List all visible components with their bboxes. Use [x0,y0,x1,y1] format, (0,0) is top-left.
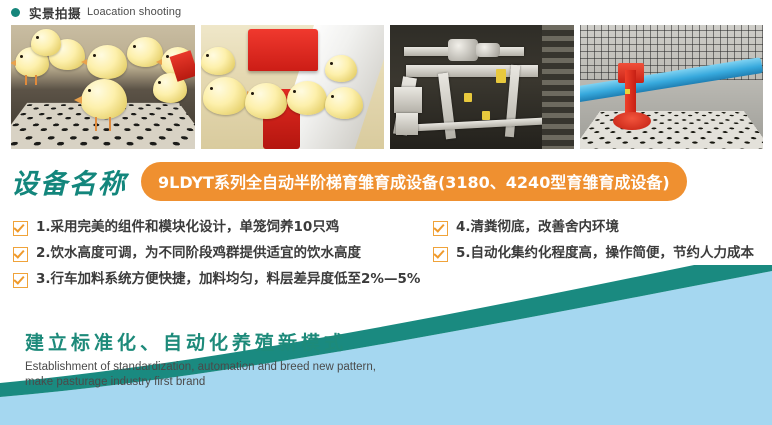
section-header: 实景拍摄 Loacation shooting [0,0,181,24]
chick-shape [245,83,287,119]
slogan-en-line1: Establishment of standardization, automa… [25,360,376,375]
feature-text: 5.自动化集约化程度高，操作简便，节约人力成本 [456,243,754,264]
feature-row: 3.行车加料系统方便快捷，加料均匀，料层差异度低至2%—5% [13,269,759,290]
photo-chicks-drinking [201,25,385,149]
chick-shape [325,55,357,82]
slogan-block: 建立标准化、自动化养殖新模式 Establishment of standard… [25,328,376,390]
yellow-nipple-valve [625,89,630,94]
check-box-icon [433,247,448,262]
chick-shape [87,45,127,79]
feature-list: 1.采用完美的组件和模块化设计，单笼饲养10只鸡 4.清粪彻底，改善舍内环境 2… [13,217,759,295]
mesh-floor-texture [580,110,764,149]
feature-text: 3.行车加料系统方便快捷，加料均匀，料层差异度低至2%—5% [36,269,420,290]
photo-strip [11,25,763,149]
chick-shape [31,29,61,56]
chick-shape [203,77,247,115]
photo-chicks-on-mesh [11,25,195,149]
gearbox-shape [476,43,500,57]
chick-shape [287,81,327,115]
machine-frame-bar [408,117,548,131]
check-box-icon [433,221,448,236]
chick-shape-foreground [81,79,127,119]
feature-item-4: 4.清粪彻底，改善舍内环境 [433,217,759,238]
bullet-dot-icon [11,8,20,17]
feed-hopper-shape [396,113,418,135]
yellow-sensor-box [496,69,506,83]
feature-row: 2.饮水高度可调，为不同阶段鸡群提供适宜的饮水高度 5.自动化集约化程度高，操作… [13,243,759,264]
check-box-icon [13,221,28,236]
chick-shape [201,47,235,75]
feature-item-1: 1.采用完美的组件和模块化设计，单笼饲养10只鸡 [13,217,433,238]
feature-item-3: 3.行车加料系统方便快捷，加料均匀，料层差异度低至2%—5% [13,269,420,290]
check-box-icon [13,273,28,288]
cage-background-texture [542,25,574,149]
slogan-en-line2: make pasturage industry first brand [25,375,376,390]
equipment-name-value: 9LDYT系列全自动半阶梯育雏育成设备(3180、4240型育雏育成设备) [141,162,687,201]
feature-text: 2.饮水高度可调，为不同阶段鸡群提供适宜的饮水高度 [36,243,361,264]
section-title-cn: 实景拍摄 [29,3,81,22]
photo-feeding-machinery [390,25,574,149]
chick-shape [325,87,363,119]
check-box-icon [13,247,28,262]
equipment-name-row: 设备名称 9LDYT系列全自动半阶梯育雏育成设备(3180、4240型育雏育成设… [11,161,687,201]
equipment-name-label: 设备名称 [11,162,127,201]
feature-row: 1.采用完美的组件和模块化设计，单笼饲养10只鸡 4.清粪彻底，改善舍内环境 [13,217,759,238]
red-drinker-head-shape [248,29,318,71]
feed-hopper-shape [394,87,422,113]
slogan-cn: 建立标准化、自动化养殖新模式 [25,328,376,355]
yellow-sensor-box [482,111,490,120]
motor-shape [448,39,478,61]
feature-item-5: 5.自动化集约化程度高，操作简便，节约人力成本 [433,243,759,264]
feature-text: 1.采用完美的组件和模块化设计，单笼饲养10只鸡 [36,217,339,238]
section-title-en: Loacation shooting [87,6,181,18]
yellow-sensor-box [464,93,472,102]
slogan-en: Establishment of standardization, automa… [25,360,376,390]
photo-drinker-cup [580,25,764,149]
feature-text: 4.清粪彻底，改善舍内环境 [456,217,619,238]
feature-item-2: 2.饮水高度可调，为不同阶段鸡群提供适宜的饮水高度 [13,243,433,264]
